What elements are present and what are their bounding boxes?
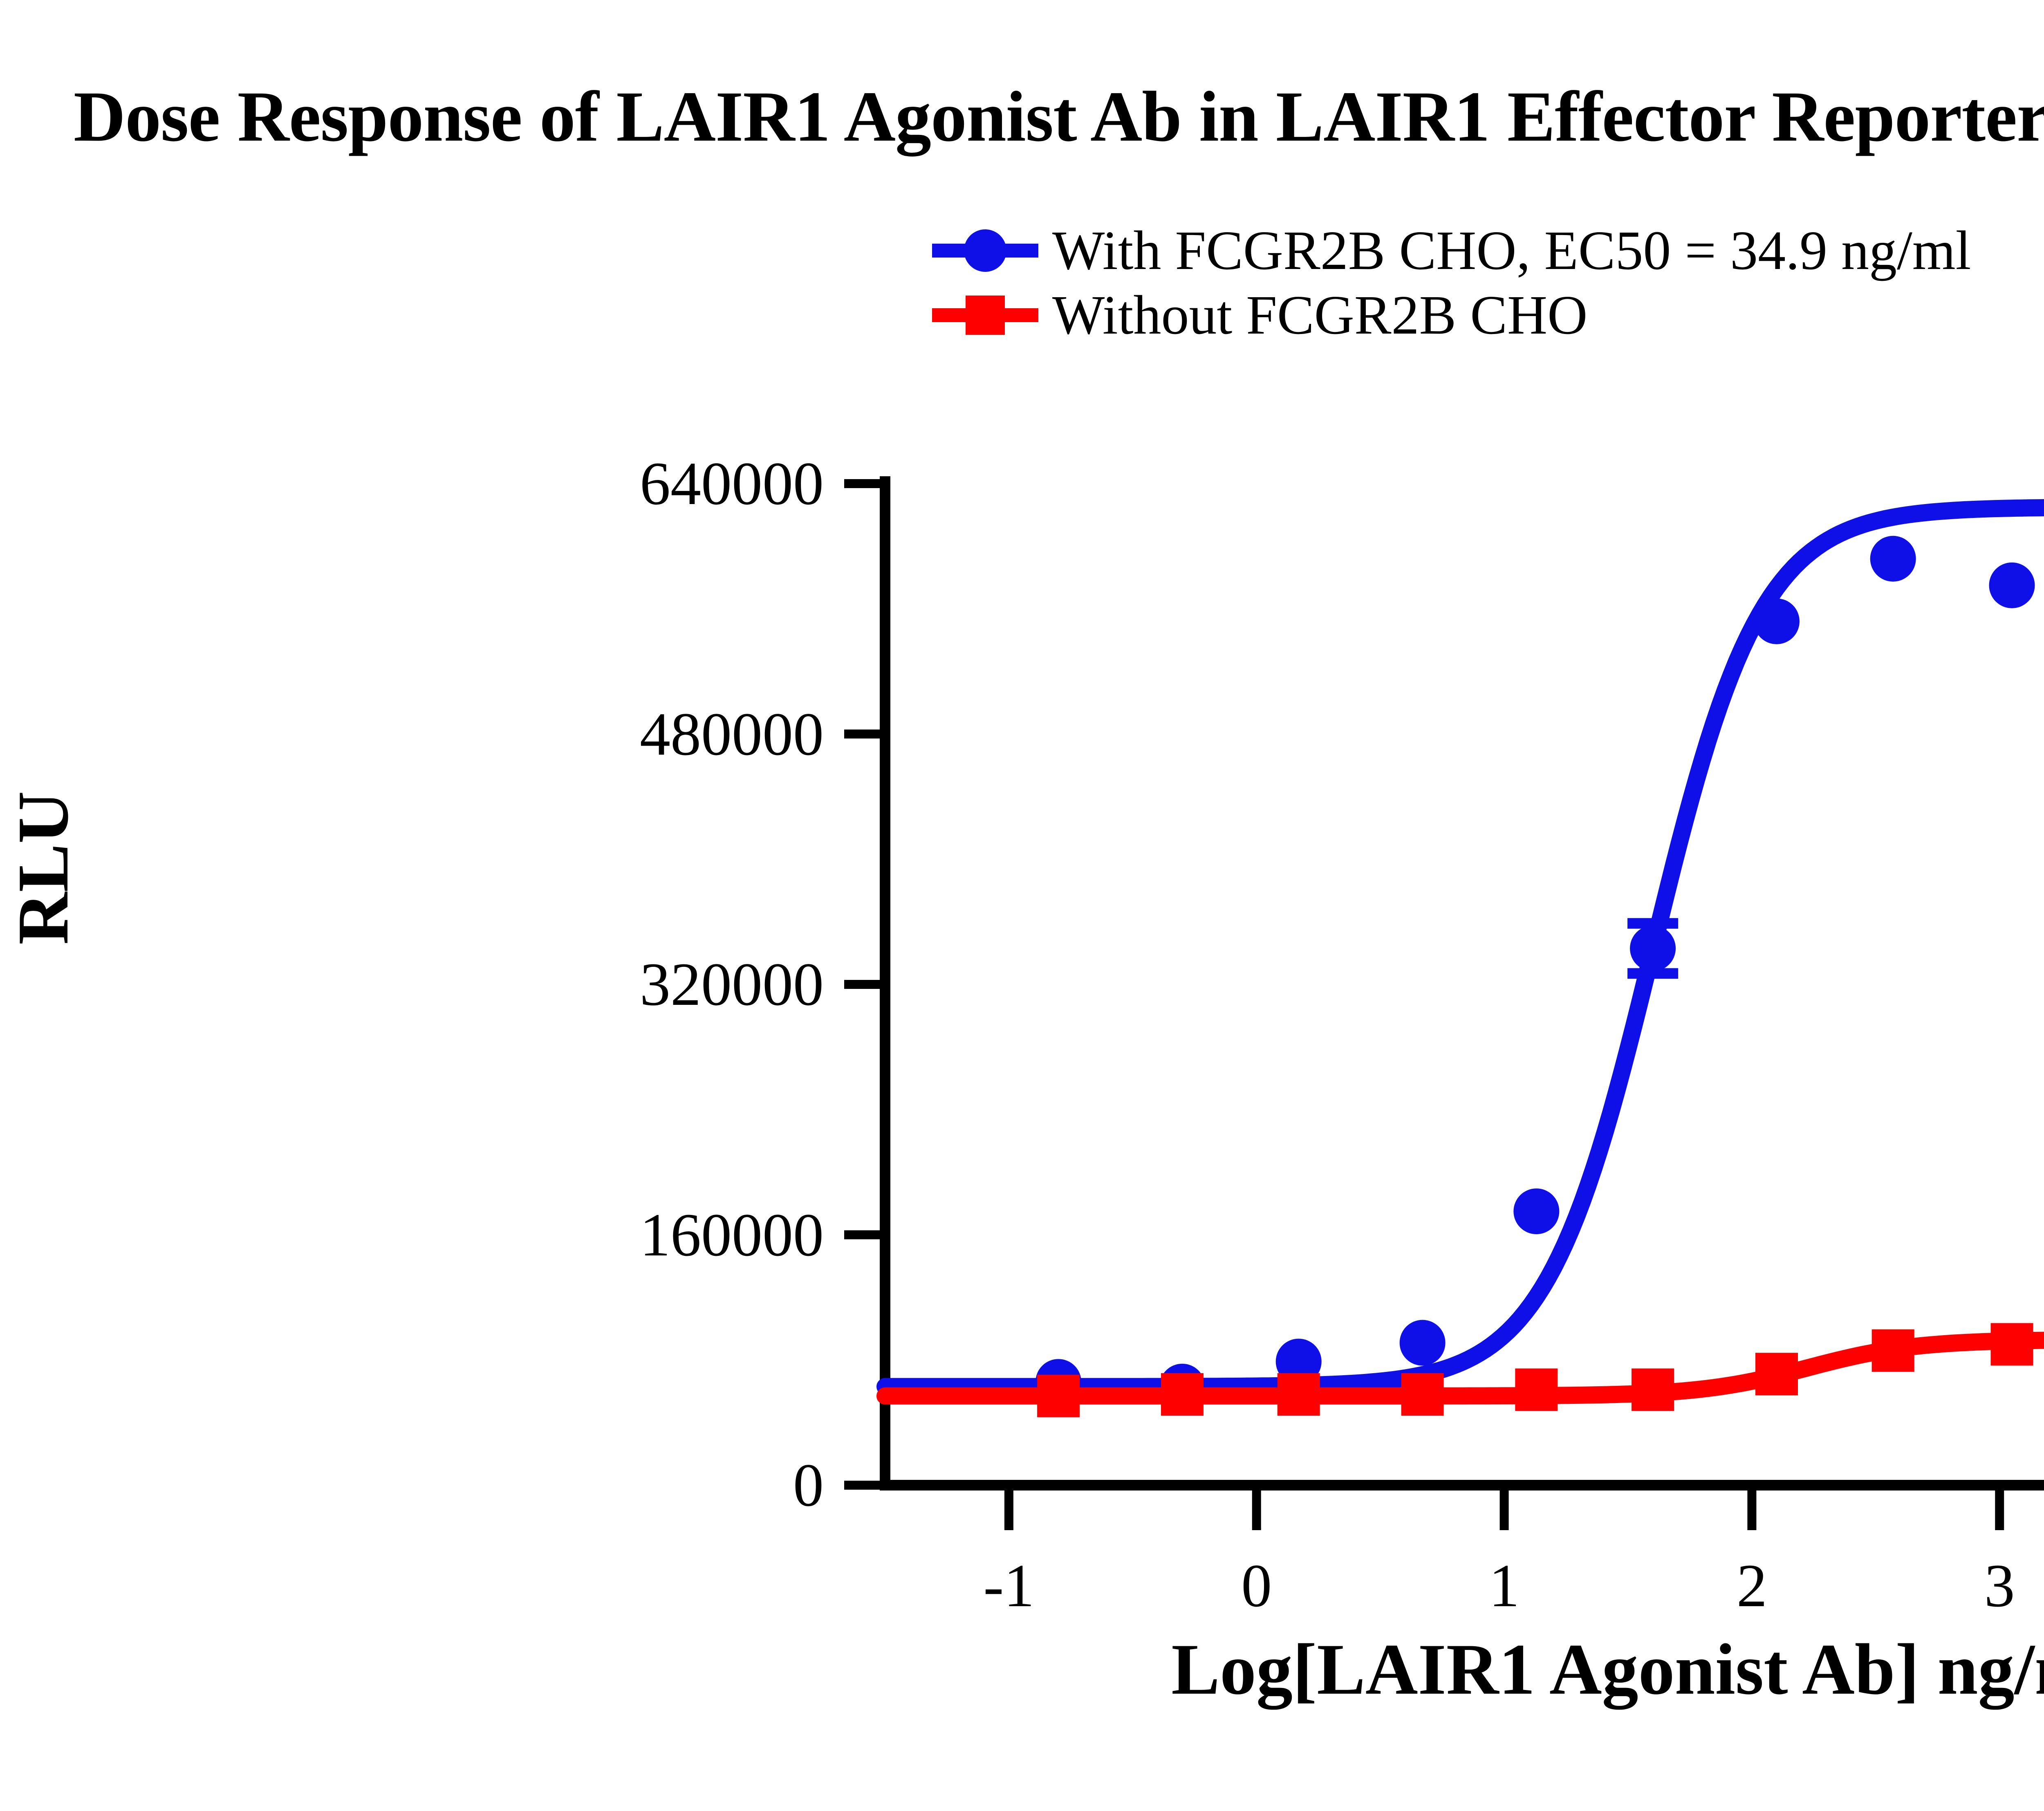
data-point-square [1872,1329,1914,1372]
data-point-circle [1989,563,2035,608]
data-point-square [1515,1368,1558,1411]
data-point-square [1161,1373,1204,1416]
chart-figure: Dose Response of LAIR1 Agonist Ab in LAI… [0,0,2044,1811]
axis-lines [880,476,2044,1485]
data-point-square [1755,1353,1798,1395]
data-point-square [1991,1323,2033,1365]
plot-area [0,0,2044,1811]
series-with-fcgr2b [885,484,2044,1409]
data-point-square [1401,1373,1444,1416]
data-point-circle [1630,926,1676,971]
data-point-square [1037,1375,1080,1417]
fit-curve [885,507,2044,1386]
data-point-square [1632,1368,1674,1411]
data-point-circle [1513,1188,1559,1234]
data-point-circle [1400,1320,1446,1366]
data-point-circle [1870,536,1916,582]
data-point-circle [1754,598,1800,644]
data-point-square [1277,1373,1320,1416]
